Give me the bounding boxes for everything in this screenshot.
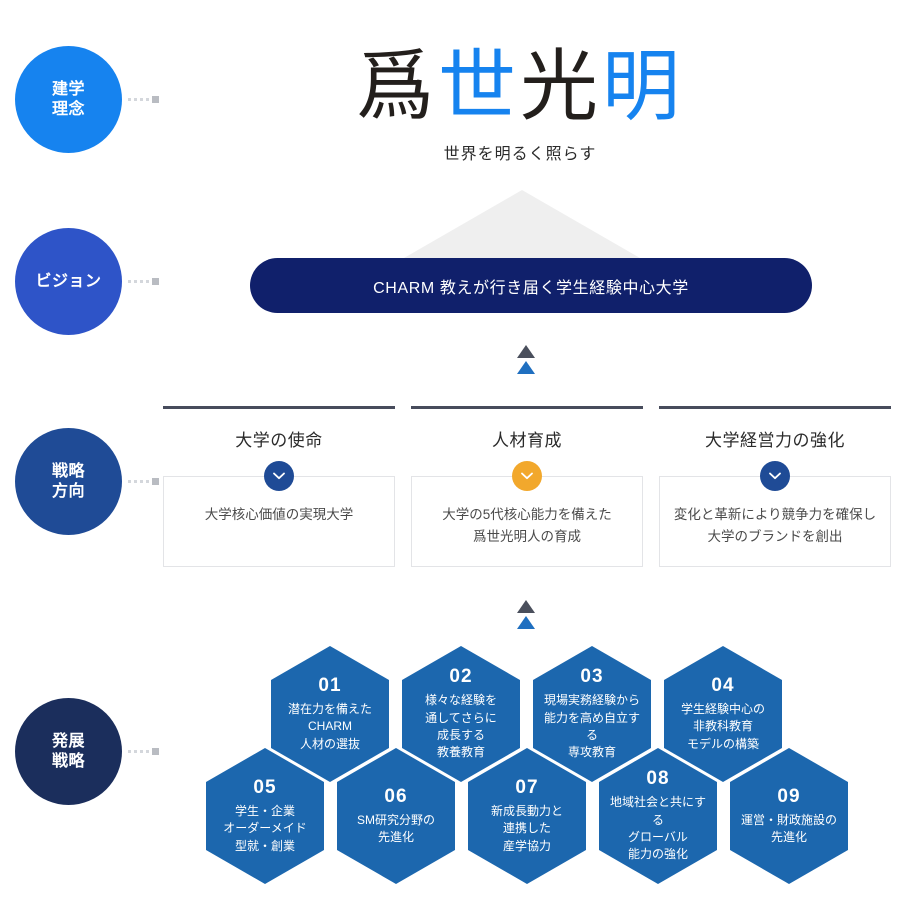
connector-dot [128,480,131,483]
column-title: 大学経営力の強化 [659,426,891,451]
stage-circle-vision: ビジョン [15,228,122,335]
connector-dot [140,480,143,483]
hexagon-text-line: 型就・創業 [223,838,307,855]
hexagon-number: 09 [777,786,800,808]
column-rule [411,406,643,409]
hexagon-number: 03 [580,666,603,688]
hexagon-text: 潜在力を備えたCHARM人材の選抜 [288,701,372,753]
hexagon-text-line: 先進化 [357,829,435,846]
hexagon-text: 現場実務経験から能力を高め自立する専攻教育 [541,692,643,762]
vision-banner-text: CHARM 教えが行き届く学生経験中心大学 [373,274,689,298]
hexagon-number: 08 [646,768,669,790]
hexagon-text-line: 学生経験中心の [681,701,765,718]
hexagon-text-line: 先進化 [741,829,837,846]
hexagon-text-line: 運営・財政施設の [741,812,837,829]
triangle-up-gray-icon [517,600,535,613]
hexagon-text-line: CHARM [288,718,372,735]
connector-dot [128,280,131,283]
column-card-line2: 爲世光明人の育成 [422,526,632,548]
hexagon-08[interactable]: 08地域社会と共にするグローバル能力の強化 [599,748,717,884]
connector-dot [128,98,131,101]
hexagon-text-line: 様々な経験を [425,692,497,709]
stage-circle-philosophy: 建学 理念 [15,46,122,153]
column-title: 大学の使命 [163,426,395,451]
hero-char-3: 光 [520,48,602,126]
hexagon-text: 運営・財政施設の先進化 [741,812,837,847]
stage-label-line2: 方向 [52,482,85,502]
hexagon-text-line: 連携した [491,820,563,837]
strategy-columns: 大学の使命 大学核心価値の実現大学 人材育成 大学の5代核心能力を備えた 爲世光… [163,406,893,567]
connector-dot [140,98,143,101]
stage-label-line1: 戦略 [52,462,85,482]
hexagon-number: 07 [515,777,538,799]
hero-block: 爲世光明 世界を明るく照らす [150,48,890,164]
connector-dot [134,480,137,483]
chevron-down-icon[interactable] [264,461,294,491]
hexagon-text-line: 潜在力を備えた [288,701,372,718]
hero-char-1: 爲 [356,48,438,126]
hexagon-03[interactable]: 03現場実務経験から能力を高め自立する専攻教育 [533,646,651,782]
column-card-line1: 変化と革新により競争力を確保し [670,504,880,526]
chevron-down-icon[interactable] [512,461,542,491]
column-title: 人材育成 [411,426,643,451]
hexagon-text-line: グローバル [607,829,709,846]
hero-char-4: 明 [602,48,684,126]
connector-dot [134,98,137,101]
hexagon-text-line: 能力を高め自立する [541,710,643,745]
hexagon-text-line: 現場実務経験から [541,692,643,709]
stage-label-line2: 理念 [52,100,85,120]
strategy-column-talent: 人材育成 大学の5代核心能力を備えた 爲世光明人の育成 [411,406,643,567]
triangle-up-blue-icon [517,616,535,629]
hexagon-number: 04 [711,675,734,697]
hexagon-text-line: 成長する [425,727,497,744]
hexagon-06[interactable]: 06SM研究分野の先進化 [337,748,455,884]
hexagon-text-line: モデルの構築 [681,736,765,753]
arrow-pair-upper [513,345,539,374]
stage-circle-strategy: 戦略 方向 [15,428,122,535]
development-strategy-hexagons: 01潜在力を備えたCHARM人材の選抜 02様々な経験を通してさらに成長する教養… [0,630,900,911]
strategy-column-management: 大学経営力の強化 変化と革新により競争力を確保し 大学のブランドを創出 [659,406,891,567]
hexagon-text: SM研究分野の先進化 [357,812,435,847]
hexagon-text-line: 能力の強化 [607,846,709,863]
hexagon-text-line: 地域社会と共にする [607,794,709,829]
connector-dot [146,280,149,283]
hexagon-text-line: オーダーメイド [223,820,307,837]
hexagon-text-line: 通してさらに [425,710,497,727]
hero-char-2: 世 [438,48,520,126]
hexagon-text-line: SM研究分野の [357,812,435,829]
triangle-up-gray-icon [517,345,535,358]
connector-dot [140,280,143,283]
pyramid-apex-decoration [404,190,640,258]
hexagon-text-line: 専攻教育 [541,744,643,761]
connector-dot [146,480,149,483]
connector-cap [152,478,159,485]
hexagon-text: 学生経験中心の非教科教育モデルの構築 [681,701,765,753]
stage-label-line1: 建学 [52,80,85,100]
hexagon-05[interactable]: 05学生・企業オーダーメイド型就・創業 [206,748,324,884]
hexagon-number: 05 [253,777,276,799]
hexagon-text: 学生・企業オーダーメイド型就・創業 [223,803,307,855]
page-title: 爲世光明 [150,48,890,126]
chevron-down-icon[interactable] [760,461,790,491]
hexagon-04[interactable]: 04学生経験中心の非教科教育モデルの構築 [664,646,782,782]
hexagon-number: 01 [318,675,341,697]
hexagon-07[interactable]: 07新成長動力と連携した産学協力 [468,748,586,884]
column-card-line1: 大学核心価値の実現大学 [174,504,384,526]
hexagon-text-line: 新成長動力と [491,803,563,820]
dotted-connector-strategy [128,478,159,485]
stage-label-line1: ビジョン [35,272,101,292]
hexagon-number: 06 [384,786,407,808]
hexagon-02[interactable]: 02様々な経験を通してさらに成長する教養教育 [402,646,520,782]
hexagon-text-line: 人材の選抜 [288,736,372,753]
hexagon-number: 02 [449,666,472,688]
arrow-pair-lower [513,600,539,629]
strategy-column-mission: 大学の使命 大学核心価値の実現大学 [163,406,395,567]
connector-dot [134,280,137,283]
hexagon-text-line: 学生・企業 [223,803,307,820]
strategy-diagram: 建学 理念 ビジョン 戦略 方向 発展 戦略 [0,0,900,911]
hexagon-text-line: 産学協力 [491,838,563,855]
connector-cap [152,278,159,285]
dotted-connector-vision [128,278,159,285]
hexagon-text: 新成長動力と連携した産学協力 [491,803,563,855]
column-rule [659,406,891,409]
triangle-up-blue-icon [517,361,535,374]
connector-dot [146,98,149,101]
vision-banner: CHARM 教えが行き届く学生経験中心大学 [250,258,812,313]
hexagon-text: 様々な経験を通してさらに成長する教養教育 [425,692,497,762]
hexagon-text-line: 非教科教育 [681,718,765,735]
column-rule [163,406,395,409]
hero-subtitle: 世界を明るく照らす [150,140,890,164]
hexagon-text-line: 教養教育 [425,744,497,761]
hexagon-text: 地域社会と共にするグローバル能力の強化 [607,794,709,864]
hexagon-01[interactable]: 01潜在力を備えたCHARM人材の選抜 [271,646,389,782]
hexagon-09[interactable]: 09運営・財政施設の先進化 [730,748,848,884]
column-card-line2: 大学のブランドを創出 [670,526,880,548]
column-card-line1: 大学の5代核心能力を備えた [422,504,632,526]
